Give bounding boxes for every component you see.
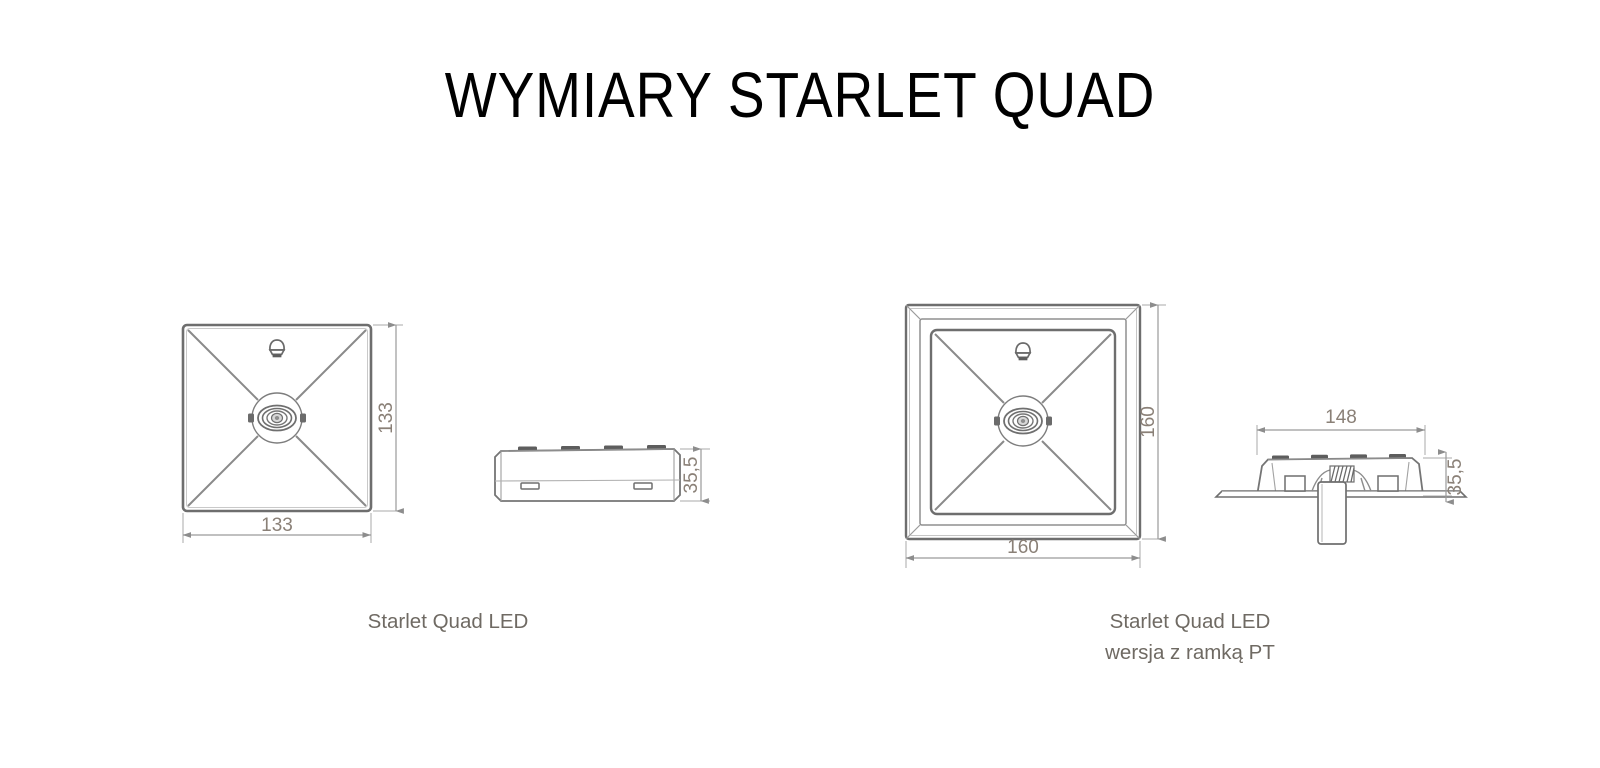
dimension-label-right-side-height: 35,5 xyxy=(1445,459,1466,496)
caption-left-line-1: Starlet Quad LED xyxy=(248,606,648,637)
housing-outline xyxy=(495,449,680,501)
dimension-label-left-side-height: 35,5 xyxy=(681,457,702,494)
dimension-label-right-width: 160 xyxy=(1007,537,1039,558)
caption-right-line-1: Starlet Quad LED xyxy=(990,606,1390,637)
lamp-icon-pt xyxy=(1016,343,1030,360)
coil-detail xyxy=(1330,466,1354,482)
figure-right-top-view: 160 160 xyxy=(906,305,1166,568)
figure-left-top-view: 133 133 xyxy=(183,325,403,543)
dimension-label-left-width: 133 xyxy=(261,515,293,536)
caption-left-figure: Starlet Quad LED xyxy=(248,606,648,637)
lamp-icon xyxy=(270,340,284,357)
caption-right-figure: Starlet Quad LED wersja z ramką PT xyxy=(990,606,1390,668)
figure-left-side-view: 35,5 xyxy=(495,445,710,501)
dimension-label-right-side-width: 148 xyxy=(1325,407,1357,428)
caption-right-line-2: wersja z ramką PT xyxy=(990,637,1390,668)
figure-right-side-view: 148 xyxy=(1216,407,1466,544)
dimension-label-left-height: 133 xyxy=(376,402,397,434)
dimension-label-right-height: 160 xyxy=(1138,406,1159,438)
